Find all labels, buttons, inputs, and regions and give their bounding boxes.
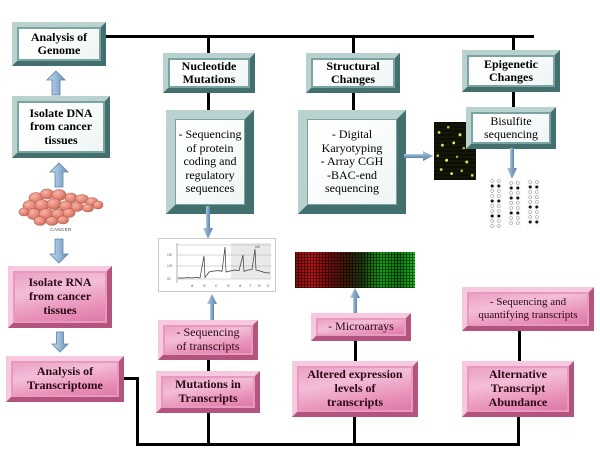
node-nucleotide-mutations[interactable]: Nucleotide Mutations (163, 53, 255, 93)
epigenetic-changes-line2: Changes (484, 71, 538, 84)
link-microarrays-to-altered (354, 341, 357, 362)
svg-text:G: G (227, 284, 230, 288)
svg-text:100: 100 (167, 264, 173, 268)
structural-method-line2: Karyotyping (321, 142, 384, 155)
drop-line-nucleotide (207, 35, 210, 55)
svg-text:150: 150 (167, 253, 173, 257)
link-epigenetic-to-method (512, 92, 515, 107)
isolate-rna-line2: from cancer (29, 290, 92, 304)
arrow-down-to-bisulfite-figure (506, 148, 518, 180)
analysis-of-transcriptome-line2: Transcriptome (27, 379, 103, 393)
arrow-up-to-chromatogram (206, 294, 218, 322)
expression-heatmap-image (295, 252, 415, 288)
isolate-dna-line2: from cancer (30, 120, 93, 133)
nucleotide-method-line5: sequences (179, 182, 242, 195)
node-alternative-transcript-abundance[interactable]: Alternative Transcript Abundance (462, 361, 574, 417)
riser-alternative-transcript (517, 417, 520, 445)
nucleotide-method-line3: coding and (179, 155, 242, 168)
alt-transcript-line3: Abundance (489, 396, 548, 410)
link-sequencing-to-mutations (207, 360, 210, 371)
node-analysis-of-transcriptome[interactable]: Analysis of Transcriptome (6, 356, 124, 402)
mutations-transcripts-line2: Transcripts (175, 392, 241, 406)
block-arrow-up-tissue-to-dna (48, 162, 70, 188)
nucleotide-mutations-line2: Mutations (182, 73, 237, 86)
node-isolate-rna[interactable]: Isolate RNA from cancer tissues (8, 266, 112, 328)
alt-transcript-line2: Transcript (489, 382, 548, 396)
svg-text:cell: cell (255, 245, 260, 249)
block-arrow-up-dna-to-genome (45, 70, 67, 96)
bus-bottom-horizontal (136, 443, 520, 446)
link-seqquant-to-alternative (518, 331, 521, 361)
mutations-transcripts-line1: Mutations in (175, 378, 241, 392)
epigenetic-changes-line1: Epigenetic (484, 58, 538, 71)
microarrays-label: - Microarrays (328, 320, 394, 334)
nucleotide-method-line1: - Sequencing (179, 128, 242, 141)
isolate-rna-line1: Isolate RNA (29, 276, 92, 290)
node-bisulfite-sequencing[interactable]: Bisulfite sequencing (466, 107, 556, 149)
cancer-tissue-caption: CANCER (16, 227, 106, 232)
structural-method-line3: - Array CGH (321, 155, 384, 168)
drop-line-structural (352, 35, 355, 55)
arrow-down-to-chromatogram (202, 206, 214, 240)
node-nucleotide-methods[interactable]: - Sequencing of protein coding and regul… (166, 110, 254, 214)
sequencing-transcripts-line1: - Sequencing (177, 326, 240, 340)
seq-quant-line1: - Sequencing and (478, 296, 577, 309)
riser-altered-expression (353, 417, 356, 445)
alt-transcript-line1: Alternative (489, 368, 548, 382)
altered-expression-line3: transcripts (307, 396, 402, 410)
svg-text:G: G (203, 284, 206, 288)
node-microarrays[interactable]: - Microarrays (311, 313, 411, 341)
svg-text:A: A (239, 284, 242, 288)
analysis-of-genome-line2: Genome (31, 44, 87, 57)
arrow-right-to-karyotype (404, 150, 434, 162)
node-sequencing-of-transcripts[interactable]: - Sequencing of transcripts (158, 320, 258, 360)
structural-method-line5: sequencing (321, 182, 384, 195)
structural-method-line4: -BAC-end (321, 169, 384, 182)
block-arrow-down-tissue-to-rna (48, 238, 70, 264)
svg-text:G: G (258, 284, 261, 288)
sequencing-transcripts-line2: of transcripts (177, 340, 240, 354)
isolate-dna-line3: tissues (30, 134, 93, 147)
link-nucleotide-to-method (207, 93, 210, 110)
altered-expression-line2: levels of (307, 382, 402, 396)
node-epigenetic-changes[interactable]: Epigenetic Changes (462, 50, 560, 92)
node-structural-methods[interactable]: - Digital Karyotyping - Array CGH -BAC-e… (298, 110, 406, 214)
svg-text:50: 50 (167, 277, 171, 281)
structural-changes-line2: Changes (326, 73, 379, 86)
node-mutations-in-transcripts[interactable]: Mutations in Transcripts (156, 371, 260, 413)
svg-text:C: C (215, 284, 218, 288)
svg-text:A: A (191, 284, 194, 288)
bisulfite-methylation-figure (486, 178, 544, 230)
analysis-of-genome-line1: Analysis of (31, 31, 87, 44)
structural-method-line1: - Digital (321, 128, 384, 141)
link-structural-to-method (352, 93, 355, 110)
isolate-dna-line1: Isolate DNA (30, 107, 93, 120)
nucleotide-mutations-line1: Nucleotide (182, 60, 237, 73)
node-structural-changes[interactable]: Structural Changes (306, 53, 400, 93)
isolate-rna-line3: tissues (29, 304, 92, 318)
riser-mutations-transcripts (207, 413, 210, 445)
bisulfite-line1: Bisulfite (484, 115, 538, 128)
bus-left-vertical (136, 377, 139, 445)
node-isolate-dna[interactable]: Isolate DNA from cancer tissues (12, 96, 110, 158)
seq-quant-line2: quantifying transcripts (478, 309, 577, 322)
altered-expression-line1: Altered expression (307, 368, 402, 382)
nucleotide-method-line2: of protein (179, 142, 242, 155)
bus-top-horizontal (104, 35, 534, 38)
cancer-tissue-illustration: CANCER (16, 186, 106, 234)
node-altered-expression-levels[interactable]: Altered expression levels of transcripts (292, 361, 418, 417)
node-sequencing-quantifying-transcripts[interactable]: - Sequencing and quantifying transcripts (462, 287, 594, 331)
bisulfite-line2: sequencing (484, 128, 538, 141)
diagram-canvas: Analysis of Genome Isolate DNA from canc… (0, 0, 600, 456)
chromatogram-panel: cell 150 100 50 AGC GAT GC (158, 238, 276, 292)
block-arrow-down-rna-to-transcriptome (50, 331, 70, 353)
structural-changes-line1: Structural (326, 60, 379, 73)
nucleotide-method-line4: regulatory (179, 169, 242, 182)
svg-text:C: C (267, 284, 270, 288)
node-analysis-of-genome[interactable]: Analysis of Genome (12, 22, 106, 66)
analysis-of-transcriptome-line1: Analysis of (27, 365, 103, 379)
